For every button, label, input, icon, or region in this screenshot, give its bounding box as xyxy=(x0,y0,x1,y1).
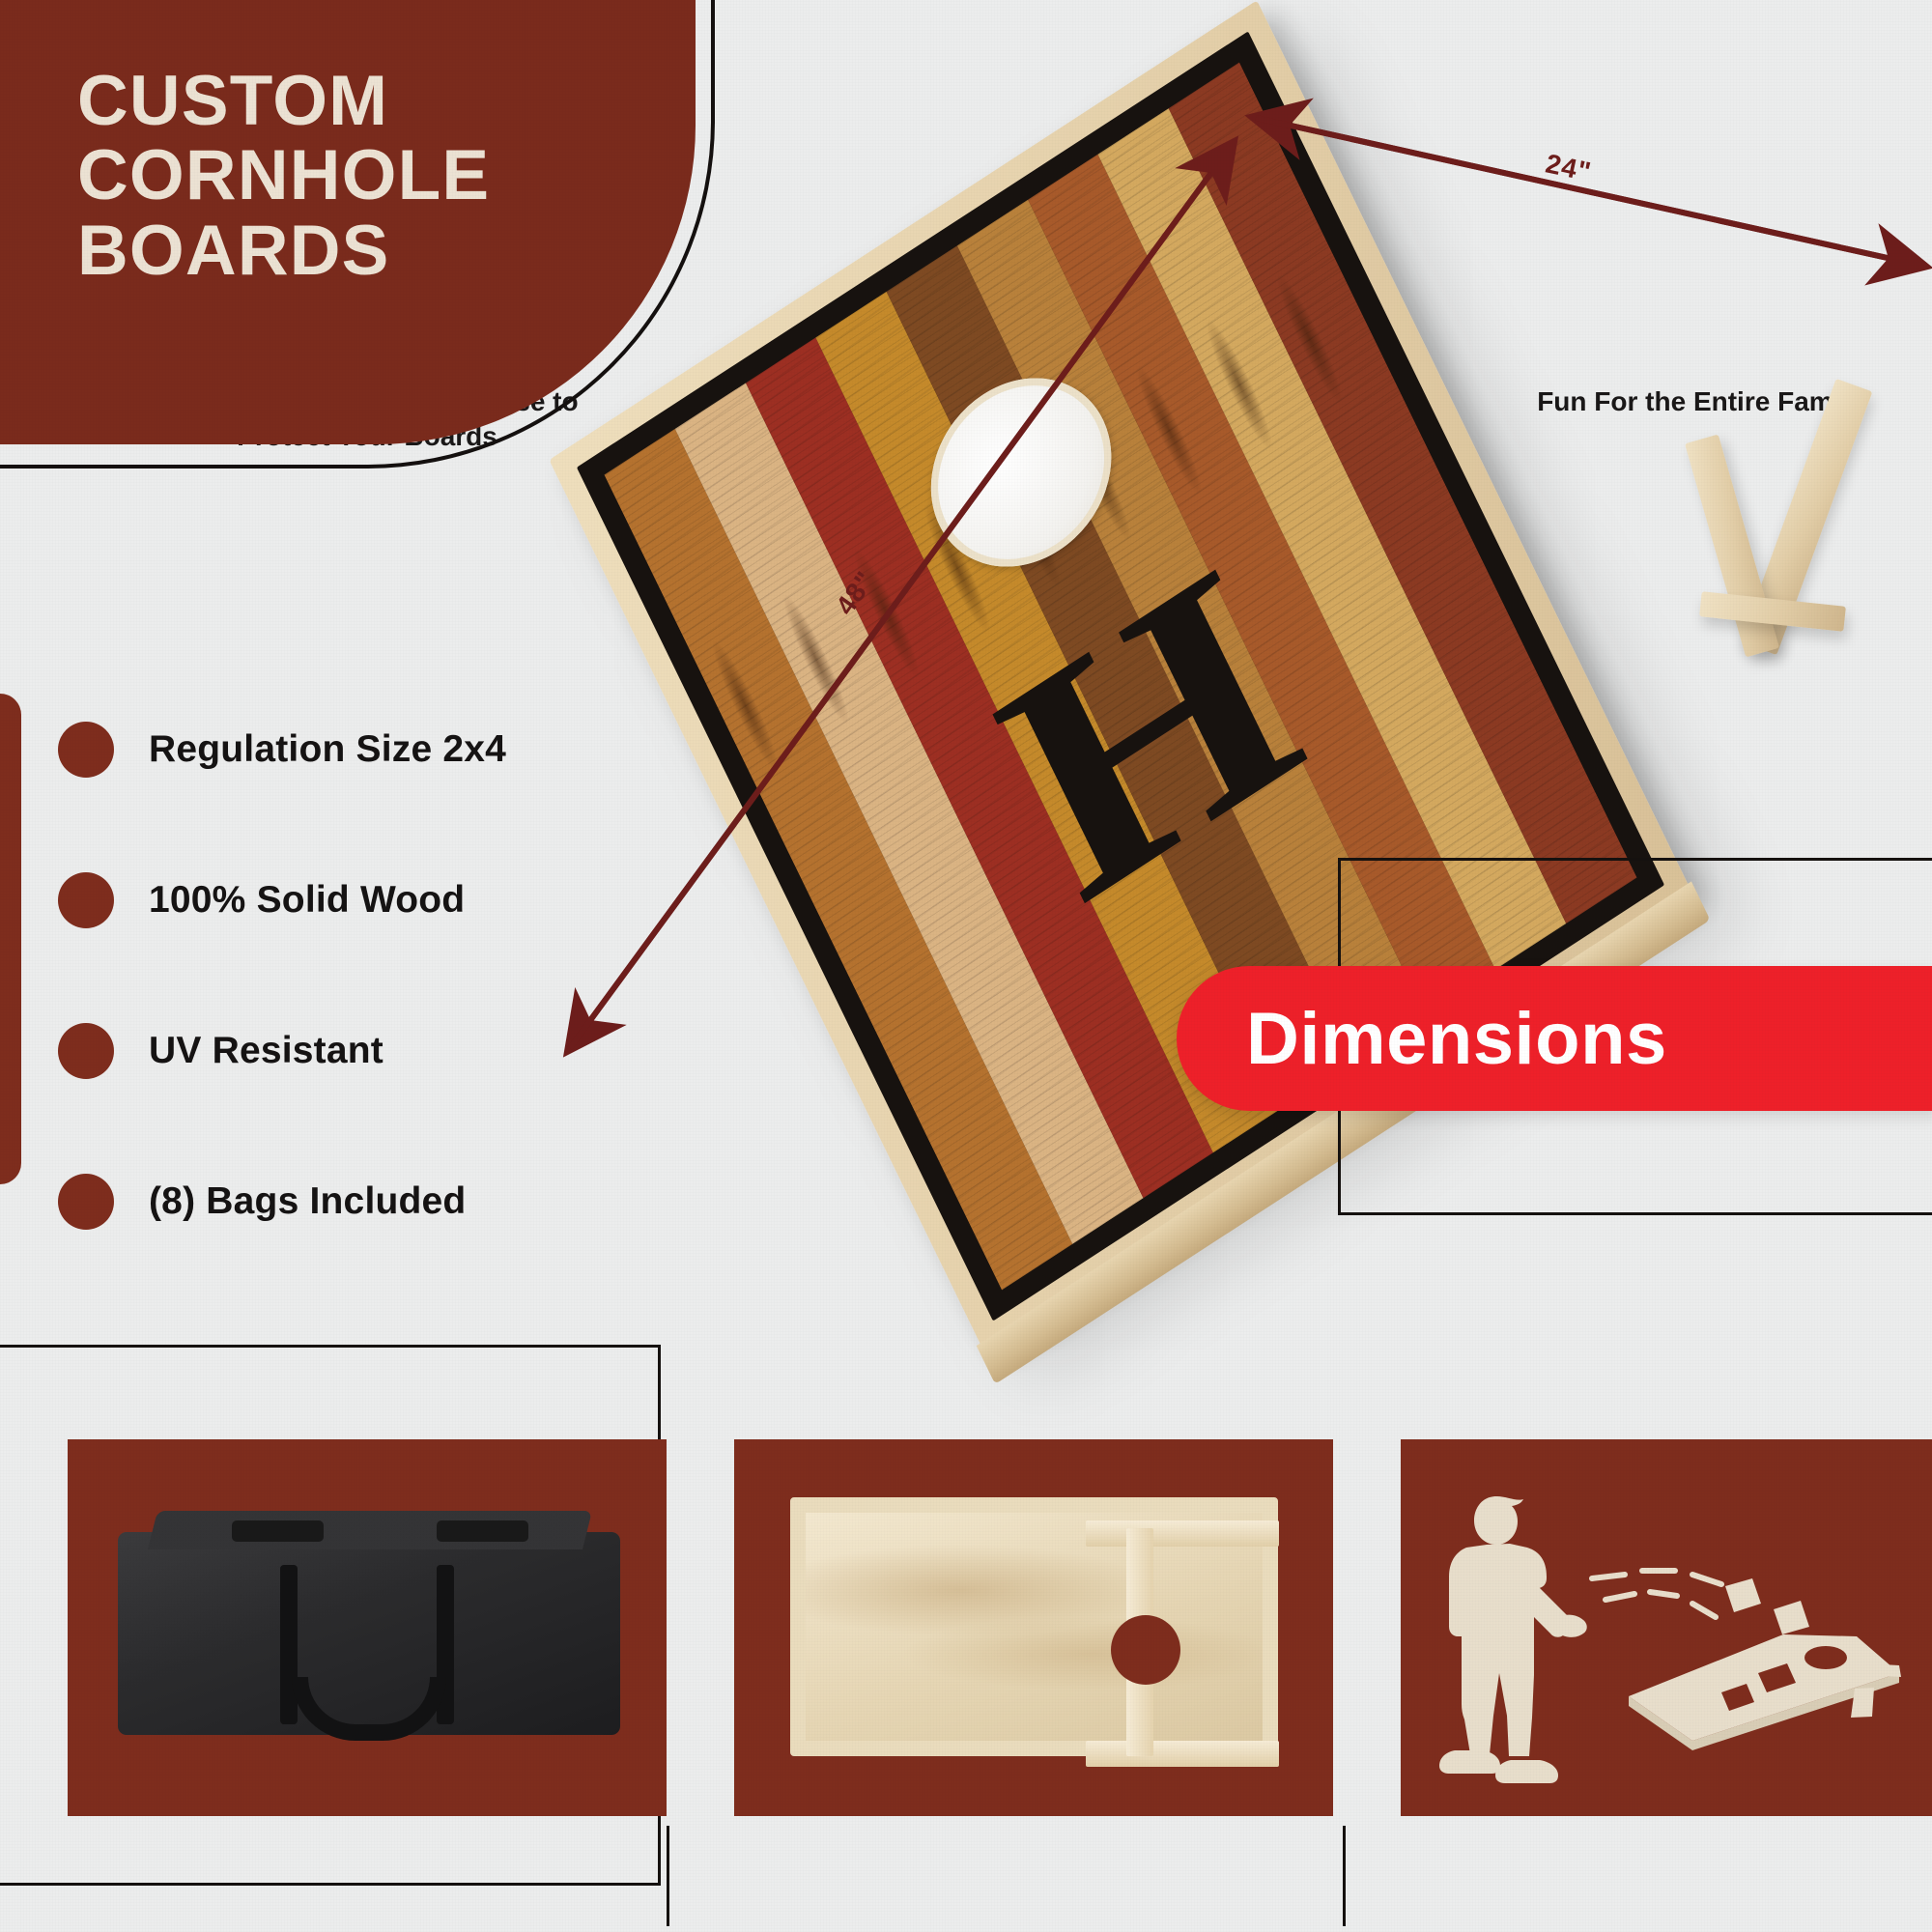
panel-carrying-case xyxy=(68,1439,667,1816)
player-tossing-bags-icon xyxy=(1401,1439,1932,1816)
bullet-dot-icon xyxy=(58,1023,114,1079)
left-accent-bar xyxy=(0,694,21,1184)
feature-label: UV Resistant xyxy=(149,1030,384,1072)
bottom-panel-row xyxy=(0,1439,1932,1932)
panel-family-fun xyxy=(1401,1439,1932,1816)
board-underside-brace-icon xyxy=(790,1497,1278,1756)
bullet-dot-icon xyxy=(58,872,114,928)
feature-label: Regulation Size 2x4 xyxy=(149,728,506,771)
feature-item: 100% Solid Wood xyxy=(58,846,657,954)
plywood-grain xyxy=(806,1513,1263,1741)
page-title: CUSTOM CORNHOLE BOARDS xyxy=(77,64,618,288)
bullet-dot-icon xyxy=(58,1174,114,1230)
bullet-dot-icon xyxy=(58,722,114,778)
dimensions-badge[interactable]: Dimensions xyxy=(1177,966,1932,1111)
board-top-surface: H xyxy=(549,0,1691,1351)
caption-divider xyxy=(1343,1826,1346,1926)
brace-rail-top xyxy=(1086,1520,1279,1547)
feature-item: UV Resistant xyxy=(58,997,657,1105)
case-handle-loop xyxy=(292,1677,446,1741)
feature-item: Regulation Size 2x4 xyxy=(58,696,657,804)
dimensions-badge-label: Dimensions xyxy=(1246,997,1667,1081)
carrying-case-icon xyxy=(118,1532,620,1735)
feature-item: (8) Bags Included xyxy=(58,1148,657,1256)
brace-rail-bottom xyxy=(1086,1741,1279,1767)
brace-cutout-hole xyxy=(1111,1615,1180,1685)
feature-list: Regulation Size 2x4 100% Solid Wood UV R… xyxy=(58,696,657,1298)
case-top-strap xyxy=(437,1520,528,1542)
caption-divider xyxy=(667,1826,669,1926)
feature-label: 100% Solid Wood xyxy=(149,879,465,922)
panel-leg-brace xyxy=(734,1439,1333,1816)
infographic-canvas: CUSTOM CORNHOLE BOARDS Regulation Size 2… xyxy=(0,0,1932,1932)
case-top-strap xyxy=(232,1520,324,1542)
feature-label: (8) Bags Included xyxy=(149,1180,466,1223)
case-handle xyxy=(280,1565,298,1724)
board-leg xyxy=(1685,434,1779,657)
